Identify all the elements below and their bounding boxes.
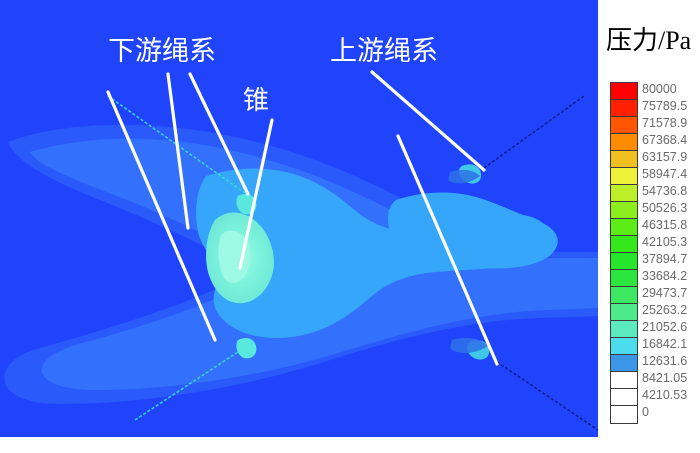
colorbar-band-9 [611,236,637,253]
colorbar-tick-16: 12631.6 [642,354,700,371]
colorbar-tick-3: 67368.4 [642,133,700,150]
colorbar-tick-14: 21052.6 [642,320,700,337]
colorbar-tick-7: 50526.3 [642,201,700,218]
colorbar-band-0 [611,83,637,100]
colorbar-tick-15: 16842.1 [642,337,700,354]
colorbar-band-6 [611,185,637,202]
legend-title: 压力/Pa [606,28,691,54]
colorbar-tick-18: 4210.53 [642,388,700,405]
colorbar-band-17 [611,372,637,389]
colorbar-tick-11: 33684.2 [642,269,700,286]
colorbar-tick-6: 54736.8 [642,184,700,201]
colorbar-band-5 [611,168,637,185]
contour-field-svg [0,0,598,437]
colorbar-band-8 [611,219,637,236]
colorbar [610,82,638,424]
colorbar-band-10 [611,253,637,270]
annotation-label-downstream: 下游绳系 [108,38,216,65]
colorbar-band-13 [611,304,637,321]
colorbar-tick-19: 0 [642,405,700,422]
colorbar-band-19 [611,406,637,423]
legend-panel: 压力/Pa 8000075789.571578.967368.463157.95… [598,0,700,453]
figure-screenshot: 下游绳系 上游绳系 锥 压力/Pa 8000075789.571578.9673… [0,0,700,453]
colorbar-tick-12: 29473.7 [642,286,700,303]
colorbar-tick-13: 25263.2 [642,303,700,320]
annotation-label-cone: 锥 [243,88,269,114]
colorbar-tick-10: 37894.7 [642,252,700,269]
colorbar-tick-8: 46315.8 [642,218,700,235]
colorbar-band-4 [611,151,637,168]
colorbar-band-1 [611,100,637,117]
colorbar-tick-9: 42105.3 [642,235,700,252]
colorbar-band-14 [611,321,637,338]
colorbar-band-15 [611,338,637,355]
colorbar-tick-labels: 8000075789.571578.967368.463157.958947.4… [642,82,700,422]
colorbar-tick-5: 58947.4 [642,167,700,184]
colorbar-band-2 [611,117,637,134]
colorbar-band-7 [611,202,637,219]
contour-plot-area: 下游绳系 上游绳系 锥 [0,0,598,437]
colorbar-band-11 [611,270,637,287]
colorbar-tick-17: 8421.05 [642,371,700,388]
colorbar-band-12 [611,287,637,304]
colorbar-band-18 [611,389,637,406]
colorbar-tick-2: 71578.9 [642,116,700,133]
annotation-label-upstream: 上游绳系 [330,38,438,65]
colorbar-tick-1: 75789.5 [642,99,700,116]
colorbar-tick-4: 63157.9 [642,150,700,167]
colorbar-band-3 [611,134,637,151]
colorbar-tick-0: 80000 [642,82,700,99]
colorbar-band-16 [611,355,637,372]
